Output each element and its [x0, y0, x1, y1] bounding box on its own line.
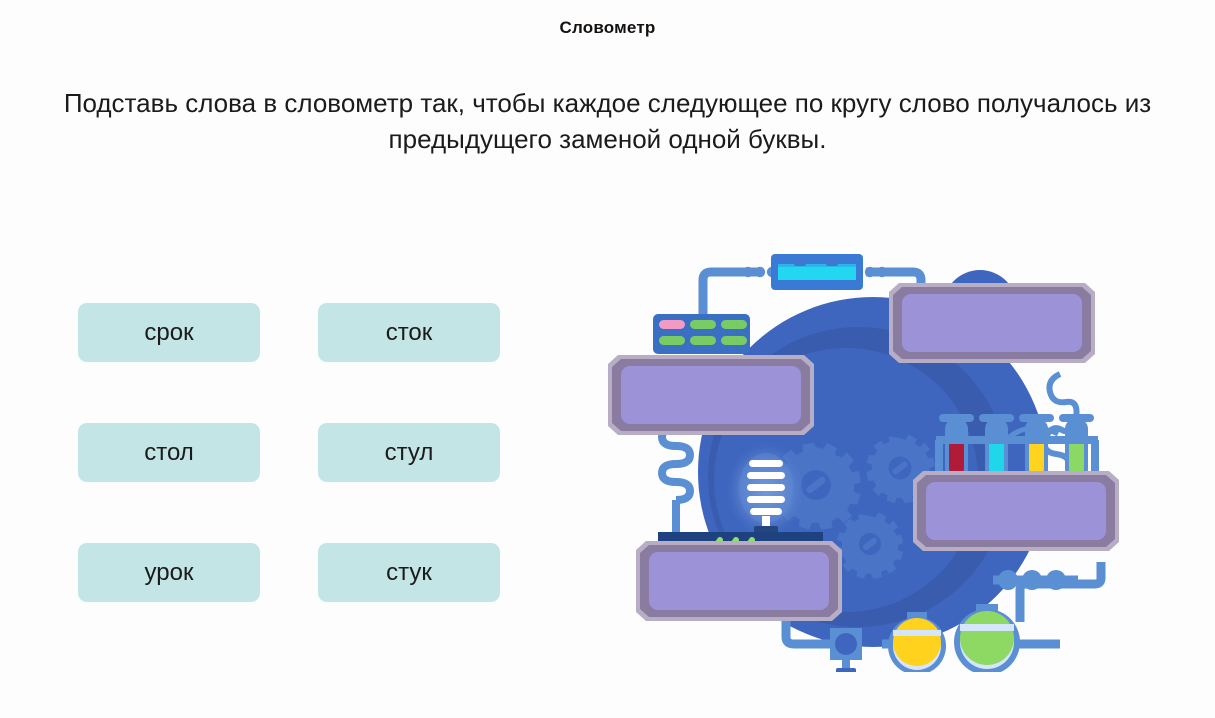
word-chip-srok[interactable]: срок — [78, 303, 260, 362]
word-chip-label: срок — [144, 319, 193, 347]
word-chip-urok[interactable]: урок — [78, 543, 260, 602]
word-chip-stuk[interactable]: стук — [318, 543, 500, 602]
indicator-panel — [653, 314, 750, 354]
word-meter-illustration — [608, 232, 1128, 672]
word-chip-stok[interactable]: сток — [318, 303, 500, 362]
word-chip-label: стол — [144, 439, 194, 467]
word-chip-label: урок — [145, 559, 194, 587]
slot-left-upper[interactable] — [608, 355, 814, 435]
page-title: Словометр — [0, 18, 1215, 38]
word-chip-stol[interactable]: стол — [78, 423, 260, 482]
valve-knob — [830, 628, 862, 672]
word-chip-label: сток — [386, 319, 433, 347]
slot-bottom-left[interactable] — [636, 541, 842, 621]
word-chip-label: стул — [385, 439, 434, 467]
slot-top-right[interactable] — [889, 283, 1095, 363]
slot-right-lower[interactable] — [913, 471, 1119, 551]
instruction-text: Подставь слова в словометр так, чтобы ка… — [30, 86, 1185, 158]
cyan-tube — [771, 254, 863, 290]
word-chip-label: стук — [386, 559, 432, 587]
test-tube-green — [1059, 414, 1094, 480]
word-bank: срок сток стол стул урок стук — [78, 303, 518, 603]
word-chip-stul[interactable]: стул — [318, 423, 500, 482]
